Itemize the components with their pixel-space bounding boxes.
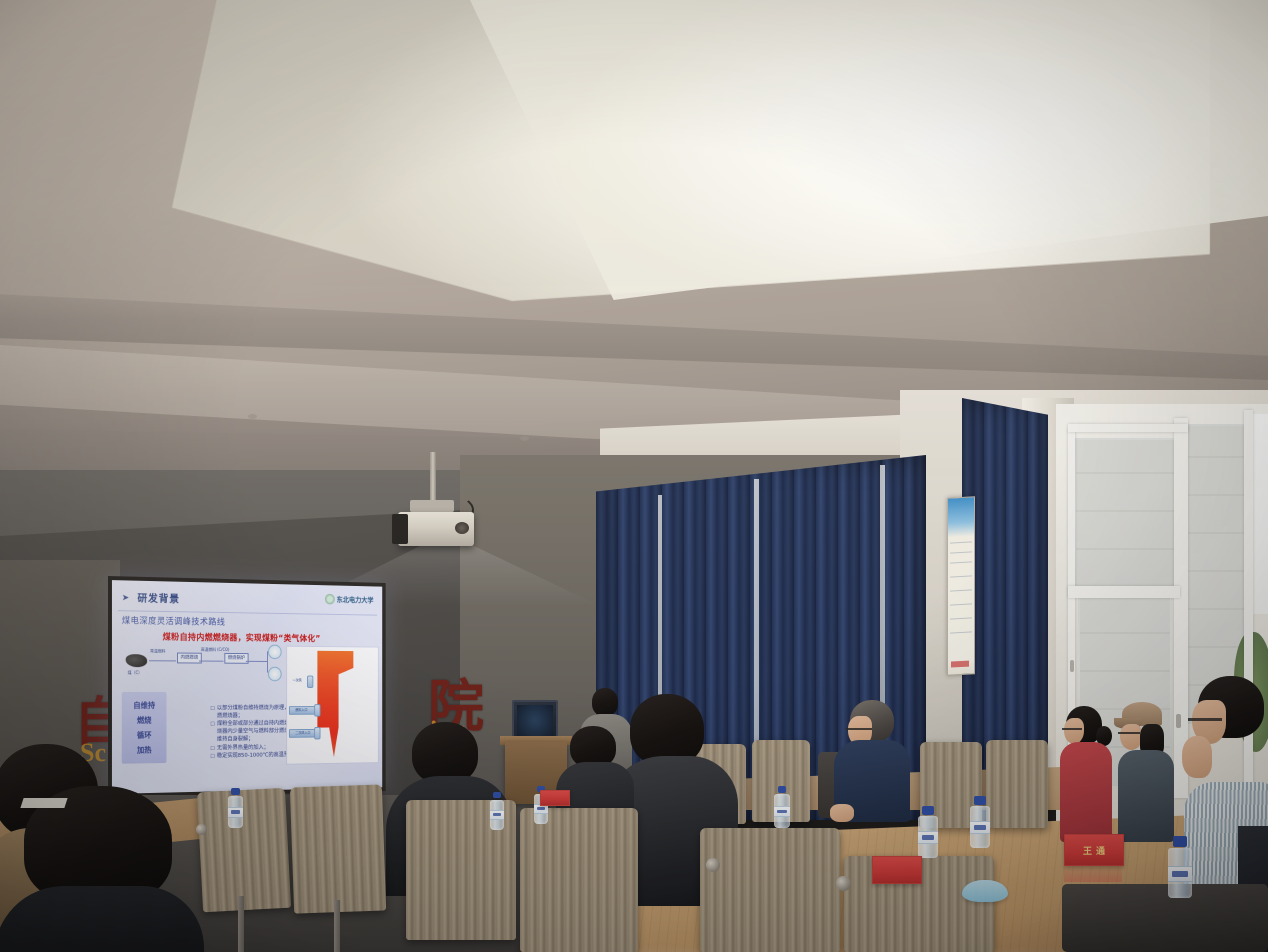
keyword-2: 燃烧 <box>137 715 152 726</box>
bottle-label <box>774 806 790 817</box>
university-logo-text: 东北电力大学 <box>337 595 374 605</box>
flow-node-heat-icon <box>268 667 282 681</box>
slide-keyword-box: 自维持 燃烧 循环 加热 <box>122 692 167 764</box>
wall-poster <box>947 496 975 675</box>
bottle-cap <box>1173 836 1186 847</box>
chair-leg <box>334 900 340 952</box>
bottle-cap <box>231 788 239 795</box>
name-card-face: 王 通 <box>1064 834 1124 866</box>
university-logo-icon <box>325 594 335 605</box>
bottle-label <box>228 807 243 818</box>
head <box>412 722 478 784</box>
conference-room-photo: 自 Sc 院 ing ➤ 研发背景 东北电力大学 煤电深度灵活调峰技术路线 煤粉… <box>0 0 1268 952</box>
window-handle[interactable] <box>1070 660 1074 672</box>
water-bottle[interactable] <box>970 796 990 848</box>
face <box>1120 724 1142 750</box>
flow-box-2: 燃烧锅炉 <box>224 653 248 664</box>
glasses-icon <box>846 728 872 730</box>
bottle-label <box>1168 866 1192 882</box>
name-card-reflection <box>1064 864 1122 882</box>
bottle-cap <box>922 806 933 815</box>
bottle-label <box>490 810 504 820</box>
bottle-label-mark <box>974 825 987 829</box>
water-bottle[interactable] <box>774 786 790 828</box>
water-bottle[interactable] <box>490 792 504 830</box>
projector-lens-icon <box>455 522 469 534</box>
pipe-cap-icon <box>314 727 320 739</box>
name-card[interactable] <box>872 856 920 882</box>
chair[interactable] <box>290 784 386 913</box>
window-view-sky <box>1252 414 1268 614</box>
bottle-cap <box>778 786 787 793</box>
bullet-arrow-icon: ➤ <box>122 592 129 603</box>
window-handle[interactable] <box>1176 714 1181 728</box>
slide-header: ➤ 研发背景 东北电力大学 <box>120 587 375 613</box>
water-bottle[interactable] <box>918 806 938 858</box>
window-view-building <box>1076 440 1174 586</box>
bottle-label-mark <box>231 810 241 813</box>
projector-side-panel <box>392 514 408 544</box>
name-card-text-a: 王 <box>1083 844 1092 857</box>
keyword-3: 循环 <box>137 730 152 741</box>
water-bottle[interactable] <box>228 788 243 828</box>
ceiling-spotlight-icon <box>520 436 529 441</box>
poster-text-line <box>950 589 972 591</box>
bottle-label-mark <box>777 810 787 814</box>
face-mask[interactable] <box>962 880 1008 902</box>
slide-red-headline: 煤粉自持内燃燃烧器，实现煤粉“类气体化” <box>163 631 321 644</box>
window-frame-right <box>1244 410 1253 810</box>
projector-mount-plate <box>410 500 454 512</box>
poster-text-line <box>950 603 972 605</box>
flow-node-power-icon <box>268 645 282 660</box>
poster-text-line <box>950 631 972 633</box>
window-frame-transom <box>1068 586 1180 598</box>
bottle-label <box>918 831 938 844</box>
chair[interactable] <box>520 808 638 952</box>
glasses-icon <box>1188 718 1222 721</box>
curtain-light-gap <box>880 465 885 715</box>
projection-screen[interactable]: ➤ 研发背景 东北电力大学 煤电深度灵活调峰技术路线 煤粉自持内燃燃烧器，实现煤… <box>108 576 386 798</box>
keyword-1: 自维持 <box>133 700 155 711</box>
pipe-label-low: 二次风入口 <box>295 730 310 735</box>
flow-arrow1-label: 常温燃料 <box>150 648 165 654</box>
flow-connector <box>149 660 176 661</box>
glasses-icon <box>1062 728 1082 730</box>
paper-sheet <box>20 798 67 808</box>
hand-on-chin <box>1182 736 1212 778</box>
ceiling-spotlight-icon <box>248 414 257 419</box>
chair[interactable] <box>986 740 1048 828</box>
slide-flow-diagram: 煤（C） 常温燃料 内燃燃烧 高温燃料 (C/CO) 燃烧锅炉 <box>124 646 285 686</box>
pipe-label-mid: 燃料入口 <box>295 707 307 712</box>
pipe-cap-icon <box>314 704 320 716</box>
slide-title: 研发背景 <box>137 590 179 606</box>
chair-knob <box>706 858 720 872</box>
slide-burner-diagram: 一次风 燃料入口 二次风入口 <box>286 646 379 765</box>
poster-text-line <box>950 575 972 577</box>
slide-subtitle: 煤电深度灵活调峰技术路线 <box>122 614 226 627</box>
pipe-cap-icon <box>307 676 313 688</box>
poster-text-line <box>950 561 972 563</box>
name-card[interactable]: 王 通 <box>1064 834 1122 864</box>
body <box>1118 750 1174 842</box>
poster-text-line <box>950 541 972 543</box>
bottle-cap <box>493 792 501 798</box>
bottle-label-mark <box>1172 871 1187 876</box>
chair[interactable] <box>1062 884 1268 952</box>
name-card[interactable] <box>540 790 568 804</box>
face <box>1064 718 1084 744</box>
chair-knob <box>836 876 851 891</box>
chair-knob <box>196 824 207 835</box>
chair-leg <box>238 896 244 952</box>
body <box>1060 742 1112 842</box>
flow-box-1: 内燃燃烧 <box>177 653 202 664</box>
poster-text-line <box>950 617 972 619</box>
bottle-label <box>970 821 990 834</box>
pipe-label-top: 一次风 <box>293 677 302 682</box>
glasses-icon <box>1118 732 1140 734</box>
coal-lump-icon <box>126 654 147 667</box>
chair[interactable] <box>197 788 291 912</box>
poster-stamp <box>951 661 969 668</box>
name-card-face <box>872 856 922 884</box>
presentation-slide: ➤ 研发背景 东北电力大学 煤电深度灵活调峰技术路线 煤粉自持内燃燃烧器，实现煤… <box>112 580 382 794</box>
chair[interactable] <box>700 828 840 952</box>
body <box>0 886 204 952</box>
bottle-cap <box>974 796 985 805</box>
poster-text-line <box>950 551 972 553</box>
podium-monitor-screen <box>517 705 553 739</box>
university-logo: 东北电力大学 <box>325 594 374 605</box>
window-frame-head <box>1068 424 1188 432</box>
name-card-face <box>540 790 570 806</box>
flow-coal-label: 煤（C） <box>128 670 142 676</box>
flow-connector <box>246 661 268 662</box>
hand <box>830 804 854 822</box>
keyword-4: 加热 <box>137 744 152 755</box>
presenter-head <box>592 688 618 716</box>
bottle-label-mark <box>922 835 935 839</box>
water-bottle[interactable] <box>1168 836 1192 898</box>
bottle-label-mark <box>537 807 546 810</box>
name-card-text-b: 通 <box>1096 844 1105 857</box>
flow-connector <box>199 661 223 662</box>
bottle-label-mark <box>493 813 502 816</box>
